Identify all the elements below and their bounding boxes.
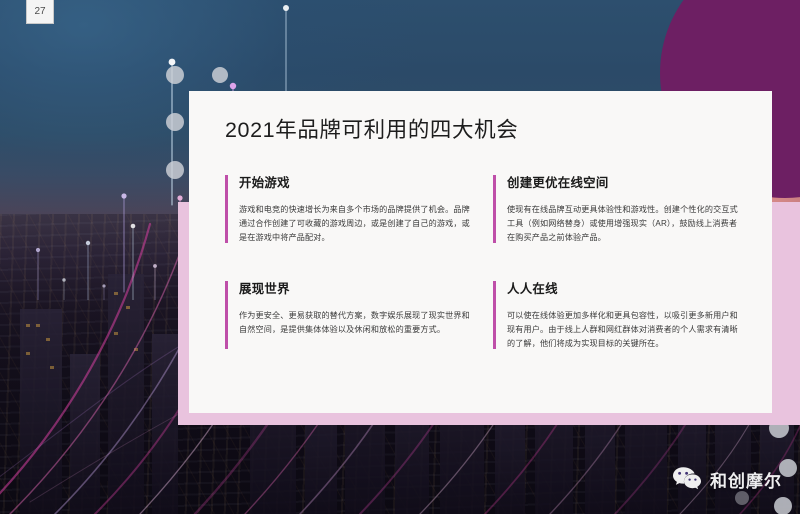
page-title: 2021年品牌可利用的四大机会 [225, 113, 518, 144]
slide-canvas: 2021年品牌可利用的四大机会 开始游戏 游戏和电竞的快速增长为来自多个市场的品… [0, 0, 800, 514]
watermark: 和创摩尔 [672, 466, 782, 492]
wechat-icon [672, 466, 702, 492]
opportunity-body: 游戏和电竞的快速增长为来自多个市场的品牌提供了机会。品牌通过合作创建了可收藏的游… [239, 203, 471, 245]
opportunity-body: 作为更安全、更易获取的替代方案，数字娱乐展现了现实世界和自然空间，是提供集体体验… [239, 309, 471, 337]
accent-bar-icon [225, 175, 228, 243]
opportunity-heading: 开始游戏 [239, 173, 493, 191]
page-number-badge[interactable]: 27 [26, 0, 54, 24]
opportunity-item-2: 创建更优在线空间 使现有在线品牌互动更具体验性和游戏性。创建个性化的交互式工具（… [493, 173, 745, 279]
opportunity-heading: 人人在线 [507, 279, 745, 297]
accent-bar-icon [225, 281, 228, 349]
opportunity-grid: 开始游戏 游戏和电竞的快速增长为来自多个市场的品牌提供了机会。品牌通过合作创建了… [225, 173, 745, 388]
watermark-label: 和创摩尔 [710, 467, 782, 492]
opportunity-item-1: 开始游戏 游戏和电竞的快速增长为来自多个市场的品牌提供了机会。品牌通过合作创建了… [225, 173, 493, 279]
opportunity-body: 可以使在线体验更加多样化和更具包容性，以吸引更多新用户和现有用户。由于线上人群和… [507, 309, 743, 351]
accent-bar-icon [493, 281, 496, 349]
opportunity-item-4: 人人在线 可以使在线体验更加多样化和更具包容性，以吸引更多新用户和现有用户。由于… [493, 279, 745, 385]
accent-bar-icon [493, 175, 496, 243]
opportunity-body: 使现有在线品牌互动更具体验性和游戏性。创建个性化的交互式工具（例如网络替身）或使… [507, 203, 743, 245]
content-card: 2021年品牌可利用的四大机会 开始游戏 游戏和电竞的快速增长为来自多个市场的品… [189, 91, 772, 413]
opportunity-item-3: 展现世界 作为更安全、更易获取的替代方案，数字娱乐展现了现实世界和自然空间，是提… [225, 279, 493, 385]
opportunity-heading: 创建更优在线空间 [507, 173, 745, 191]
opportunity-heading: 展现世界 [239, 279, 493, 297]
